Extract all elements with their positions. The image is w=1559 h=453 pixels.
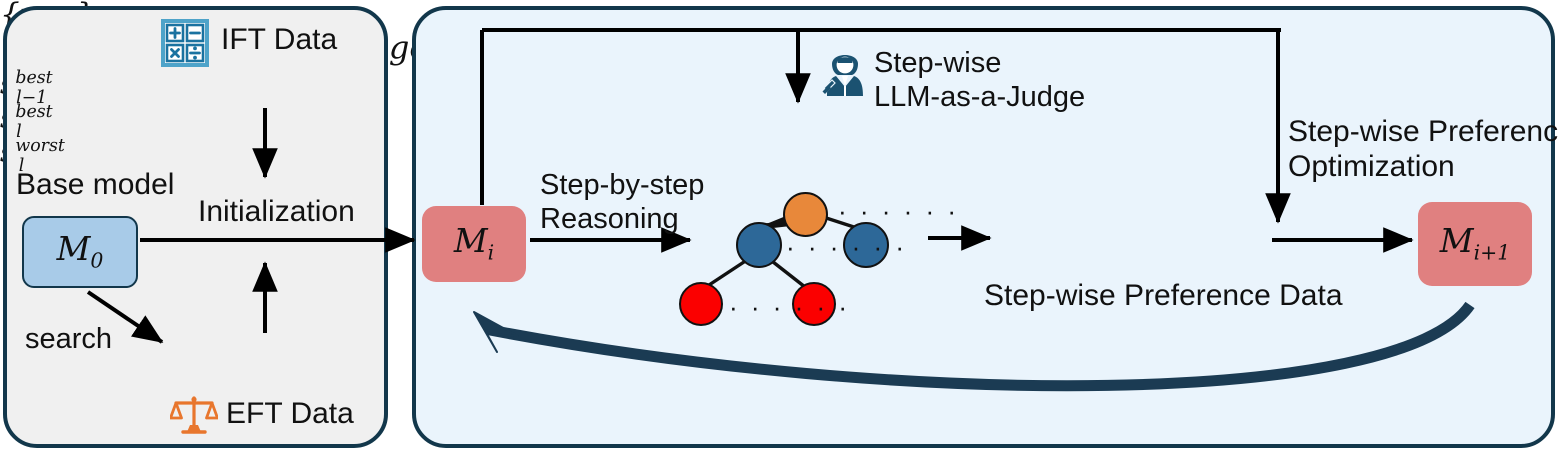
- model-box-m0-label: M0: [57, 232, 104, 271]
- ift-data-label: IFT Data: [221, 22, 337, 57]
- model-box-mi-label: Mi: [454, 224, 494, 263]
- tree-root-ellipsis: · · · · · ·: [838, 198, 959, 224]
- step-by-step-reasoning-label: Step-by-stepReasoning: [540, 168, 704, 236]
- initialization-label: Initialization: [198, 194, 355, 229]
- tree-mid-ellipsis: · · · · · ·: [786, 234, 907, 260]
- root-node[interactable]: [783, 192, 828, 237]
- judge-avatar-icon: [822, 46, 868, 98]
- model-box-m0[interactable]: M0: [22, 216, 138, 288]
- diagram-canvas: IFT Data {x, y} Base model M0 Initializa…: [0, 0, 1559, 453]
- preference-data-label: Step-wise Preference Data: [984, 278, 1343, 313]
- balance-scale-icon: [170, 392, 218, 440]
- leaf-left-node[interactable]: [679, 282, 723, 326]
- base-model-label: Base model: [16, 167, 174, 202]
- model-box-mi1[interactable]: Mi+1: [1418, 202, 1532, 286]
- step-wise-preference-optimization-label: Step-wise PreferenceOptimization: [1288, 114, 1559, 185]
- calculator-icon: [160, 18, 210, 68]
- model-box-mi1-label: Mi+1: [1440, 224, 1510, 263]
- model-box-mi[interactable]: Mi: [422, 206, 526, 282]
- judge-label: Step-wiseLLM-as-a-Judge: [874, 46, 1085, 114]
- mid-left-node[interactable]: [736, 222, 782, 268]
- tree-leaf-ellipsis: · · · · · ·: [729, 294, 850, 320]
- search-label: search: [25, 322, 112, 356]
- eft-data-label: EFT Data: [226, 396, 354, 431]
